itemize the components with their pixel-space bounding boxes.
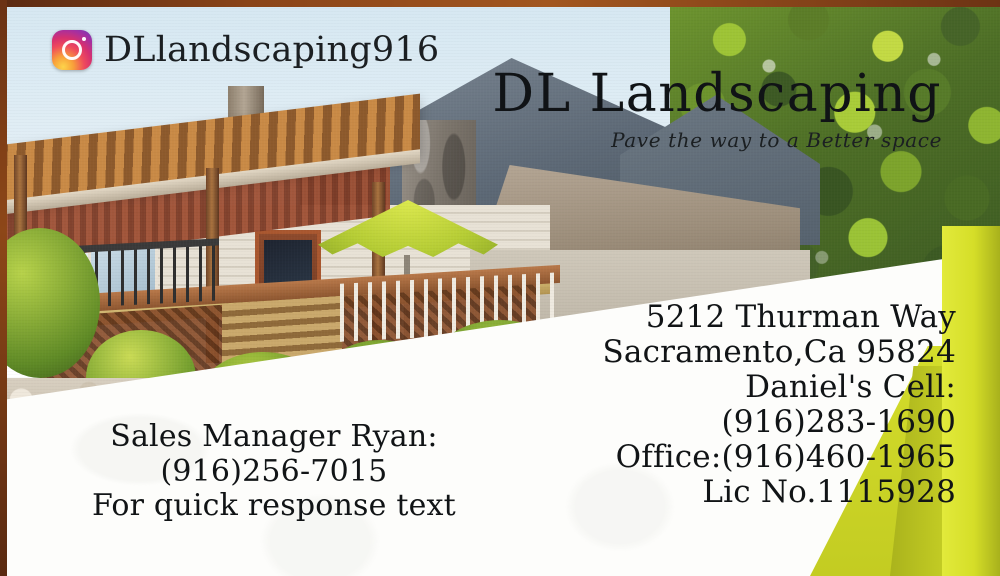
brand-block: DL Landscaping Pave the way to a Better … bbox=[492, 68, 942, 152]
card-left-border bbox=[0, 0, 7, 576]
quick-response-note: For quick response text bbox=[92, 489, 456, 524]
contact-block-left: Sales Manager Ryan: (916)256-7015 For qu… bbox=[92, 420, 456, 524]
office-number[interactable]: Office:(916)460-1965 bbox=[602, 440, 956, 475]
company-name: DL Landscaping bbox=[492, 68, 942, 120]
instagram-icon[interactable] bbox=[52, 30, 92, 70]
instagram-handle-row[interactable]: DLlandscaping916 bbox=[52, 30, 439, 70]
business-card: DLlandscaping916 DL Landscaping Pave the… bbox=[0, 0, 1000, 576]
contact-block-right: 5212 Thurman Way Sacramento,Ca 95824 Dan… bbox=[602, 300, 956, 510]
sales-manager-number[interactable]: (916)256-7015 bbox=[92, 455, 456, 490]
card-top-border bbox=[0, 0, 1000, 7]
sales-manager-label: Sales Manager Ryan: bbox=[92, 420, 456, 455]
company-tagline: Pave the way to a Better space bbox=[492, 128, 942, 152]
city-state-zip: Sacramento,Ca 95824 bbox=[602, 335, 956, 370]
cell-label: Daniel's Cell: bbox=[602, 370, 956, 405]
street-address: 5212 Thurman Way bbox=[602, 300, 956, 335]
cell-number[interactable]: (916)283-1690 bbox=[602, 405, 956, 440]
license-number: Lic No.1115928 bbox=[602, 475, 956, 510]
instagram-handle-text: DLlandscaping916 bbox=[104, 30, 439, 70]
